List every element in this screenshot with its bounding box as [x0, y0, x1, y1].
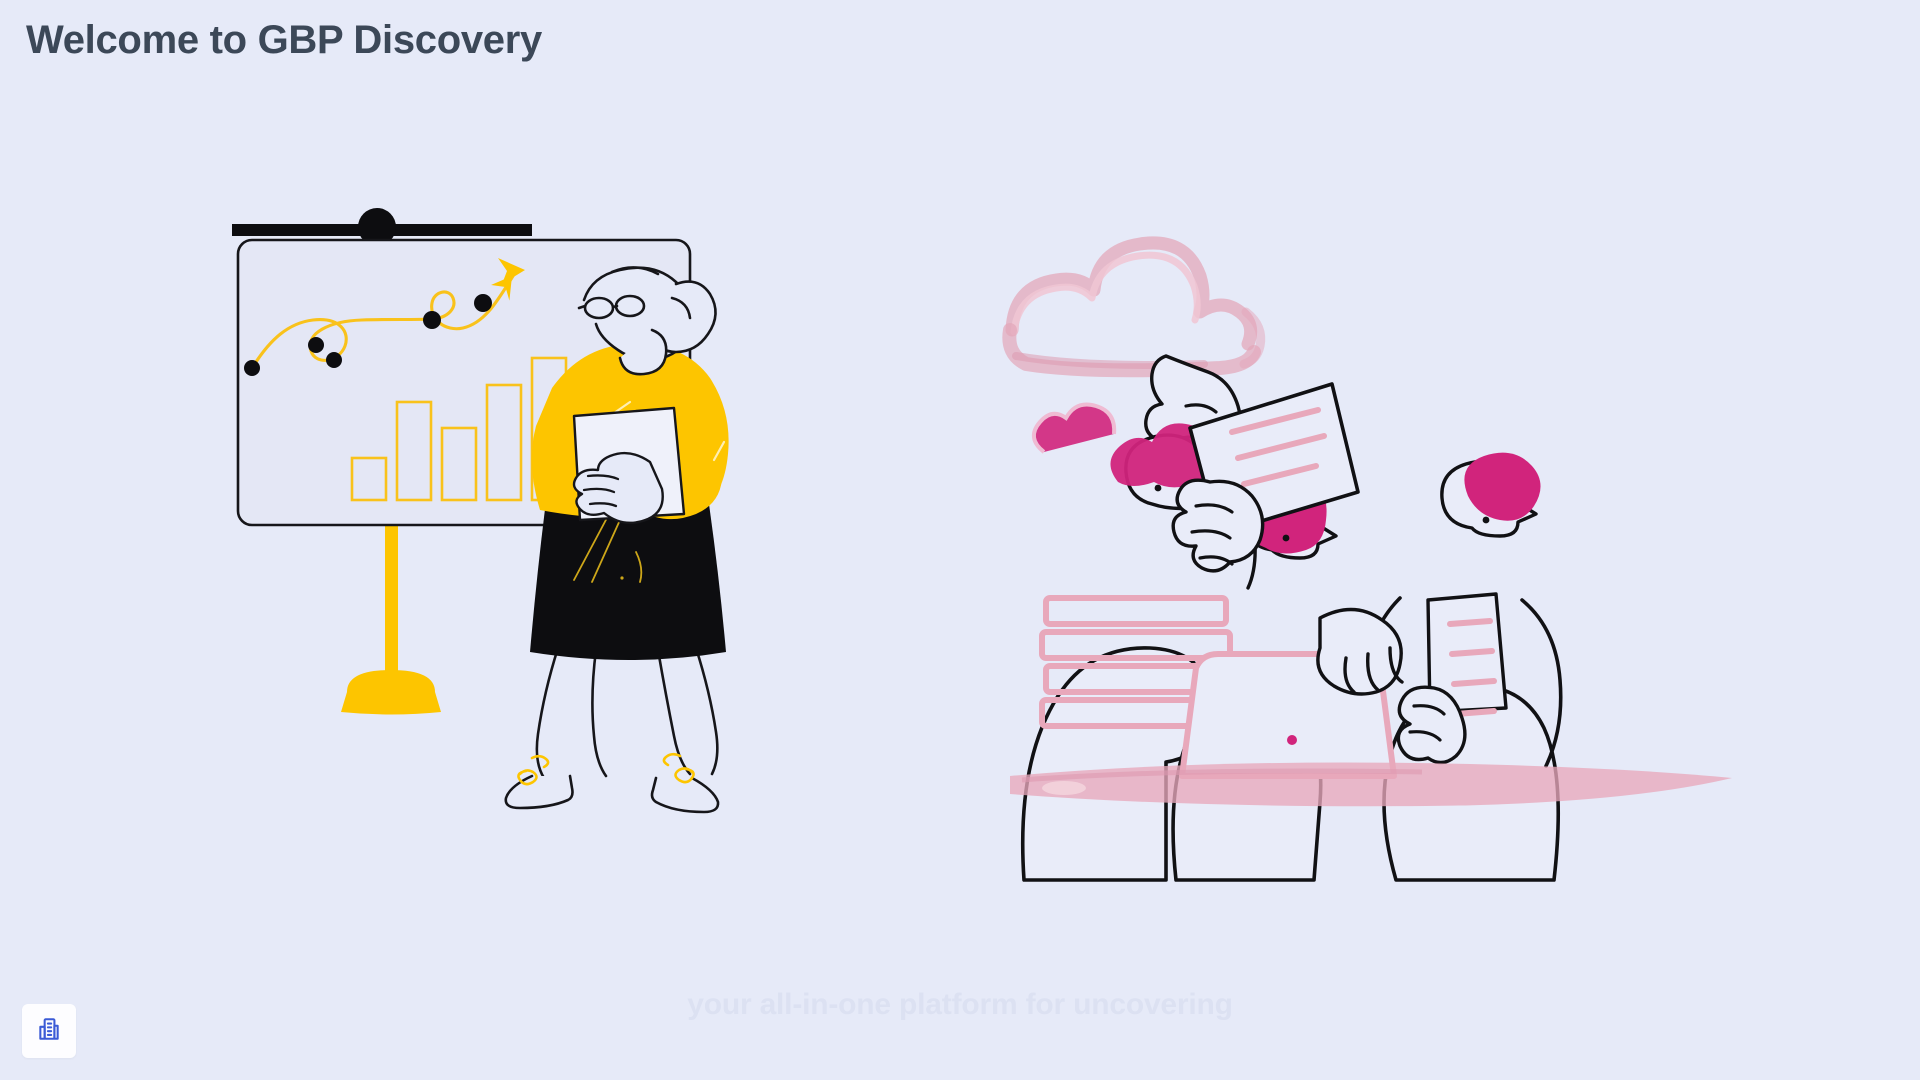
- app-badge[interactable]: [22, 1004, 76, 1058]
- laptop-logo: [1287, 735, 1297, 745]
- presenter-chart-illustration: [180, 180, 920, 900]
- typing-hand: [1318, 609, 1402, 694]
- page-subtitle: your all-in-one platform for uncovering: [0, 988, 1920, 1022]
- building-icon: [36, 1016, 62, 1047]
- table-surface: [1010, 763, 1732, 807]
- team-research-illustration: [1000, 220, 1760, 900]
- presenter-legs: [506, 648, 718, 812]
- cloud-sketch: [1009, 243, 1260, 370]
- page-title: Welcome to GBP Discovery: [26, 18, 542, 63]
- document-holding-hand: [1173, 480, 1262, 571]
